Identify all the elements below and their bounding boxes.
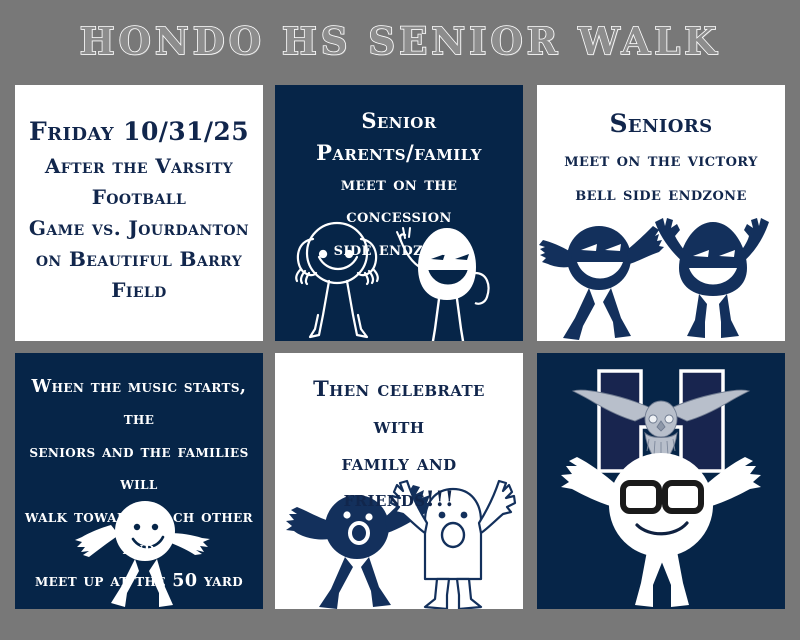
glasses-figure [561, 453, 761, 607]
panel-details-text: Friday 10/31/25 After the Varsity Footba… [15, 85, 263, 306]
music-line-3: meet up at the 50 yard line [25, 565, 253, 609]
panel-parents: Senior Parents/family meet on the conces… [275, 85, 523, 341]
music-line-1: seniors and the families will [25, 436, 253, 501]
panel-parents-text: Senior Parents/family meet on the conces… [275, 85, 523, 265]
seniors-line-0: Seniors [547, 105, 775, 143]
panel-music-cue: When the music starts, the seniors and t… [15, 353, 263, 609]
detail-line-2: Game vs. Jourdanton [25, 213, 253, 244]
senior-walk-poster: Hondo HS Senior Walk Friday 10/31/25 Aft… [0, 0, 800, 640]
navy-figure-left [539, 226, 664, 340]
logo-panel-art [537, 353, 785, 609]
panel-details: Friday 10/31/25 After the Varsity Footba… [15, 85, 263, 341]
music-line-2: walk towards each other and [25, 501, 253, 566]
page-title: Hondo HS Senior Walk [80, 19, 721, 63]
detail-line-1: After the Varsity Football [25, 151, 253, 213]
music-line-0: When the music starts, the [25, 371, 253, 436]
poster-header: Hondo HS Senior Walk [0, 12, 800, 70]
celebrate-line-0: Then celebrate with [285, 371, 513, 445]
two-navy-figures-art [537, 206, 785, 341]
panel-logo [537, 353, 785, 609]
panel-celebrate-text: Then celebrate with family and friends!!… [275, 353, 523, 518]
detail-line-date: Friday 10/31/25 [25, 113, 253, 151]
navy-figure-left-face [577, 244, 623, 279]
seniors-line-1: meet on the victory [547, 143, 775, 177]
detail-line-3: on Beautiful Barry Field [25, 244, 253, 306]
navy-figure-right-face [689, 250, 737, 285]
celebrate-line-1: family and friends!!! [285, 445, 513, 519]
parents-line-0: Senior Parents/family [285, 105, 513, 168]
panel-seniors-text: Seniors meet on the victory bell side en… [537, 85, 785, 211]
seniors-line-2: bell side endzone [547, 177, 775, 211]
parents-line-1: meet on the concession [285, 168, 513, 233]
panel-music-cue-text: When the music starts, the seniors and t… [15, 353, 263, 609]
panel-seniors: Seniors meet on the victory bell side en… [537, 85, 785, 341]
navy-figure-right [655, 218, 769, 338]
parents-line-2: side endzone. [285, 233, 513, 265]
panel-celebrate: Then celebrate with family and friends!!… [275, 353, 523, 609]
